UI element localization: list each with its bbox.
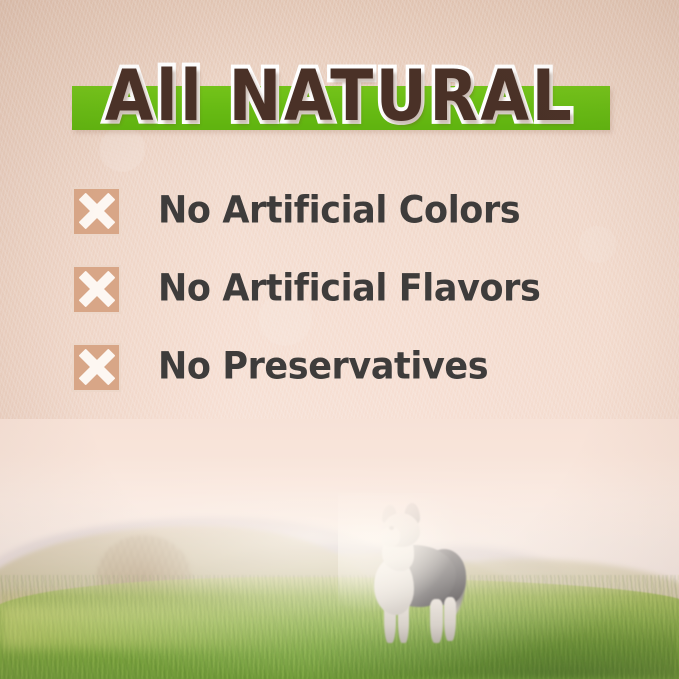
dog-back-leg-left bbox=[430, 599, 443, 643]
x-mark-icon bbox=[72, 343, 121, 392]
dog-border-collie bbox=[352, 501, 472, 653]
product-feature-poster: All NATURAL No Artificial Colors No Arti… bbox=[0, 0, 679, 679]
dog-eye bbox=[389, 526, 394, 530]
list-item: No Preservatives bbox=[72, 328, 632, 406]
page-title: All NATURAL bbox=[0, 56, 679, 137]
claim-label: No Artificial Flavors bbox=[158, 268, 540, 310]
lifestyle-photo bbox=[0, 419, 679, 679]
x-mark-icon bbox=[72, 187, 121, 236]
claim-label: No Preservatives bbox=[158, 346, 488, 388]
dog-back-leg-right bbox=[444, 597, 456, 641]
list-item: No Artificial Colors bbox=[72, 172, 632, 250]
x-mark-icon bbox=[72, 265, 121, 314]
dog-muzzle bbox=[380, 527, 400, 547]
list-item: No Artificial Flavors bbox=[72, 250, 632, 328]
claim-label: No Artificial Colors bbox=[158, 190, 520, 232]
title-banner: All NATURAL bbox=[0, 56, 679, 128]
